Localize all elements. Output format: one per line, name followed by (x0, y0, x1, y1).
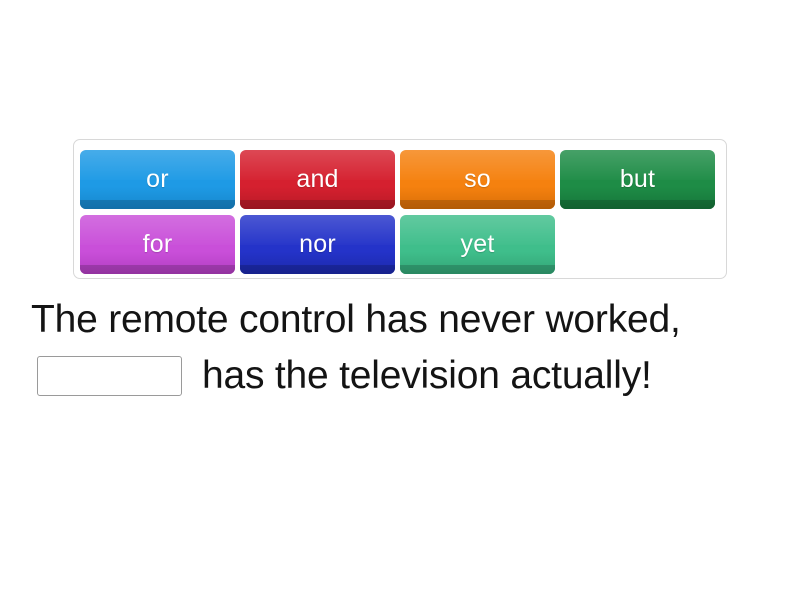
word-tile-label: or (146, 165, 169, 194)
sentence-line-2: has the television actually! (0, 348, 800, 404)
word-tile-nor[interactable]: nor (240, 215, 395, 274)
sentence-line-1: The remote control has never worked, (0, 292, 800, 348)
sentence-text-after-blank: has the television actually! (202, 348, 652, 404)
word-tile-label: so (464, 165, 491, 194)
word-tile-for[interactable]: for (80, 215, 235, 274)
word-tile-label: but (620, 165, 655, 194)
word-tile-label: for (143, 230, 173, 259)
blank-answer-input[interactable] (37, 356, 182, 396)
word-tile-and[interactable]: and (240, 150, 395, 209)
word-bank-row-2: for nor yet (80, 215, 555, 274)
sentence-text-before-blank: The remote control has never worked, (31, 292, 681, 348)
word-tile-label: yet (461, 230, 495, 259)
word-tile-label: and (296, 165, 338, 194)
word-tile-so[interactable]: so (400, 150, 555, 209)
word-bank-panel: or and so but for nor yet (73, 139, 727, 279)
word-tile-yet[interactable]: yet (400, 215, 555, 274)
sentence-block: The remote control has never worked, has… (0, 292, 800, 404)
word-bank-rows: or and so but for nor yet (74, 140, 726, 278)
word-tile-but[interactable]: but (560, 150, 715, 209)
word-tile-label: nor (299, 230, 336, 259)
word-bank-row-1: or and so but (80, 150, 715, 209)
word-tile-or[interactable]: or (80, 150, 235, 209)
